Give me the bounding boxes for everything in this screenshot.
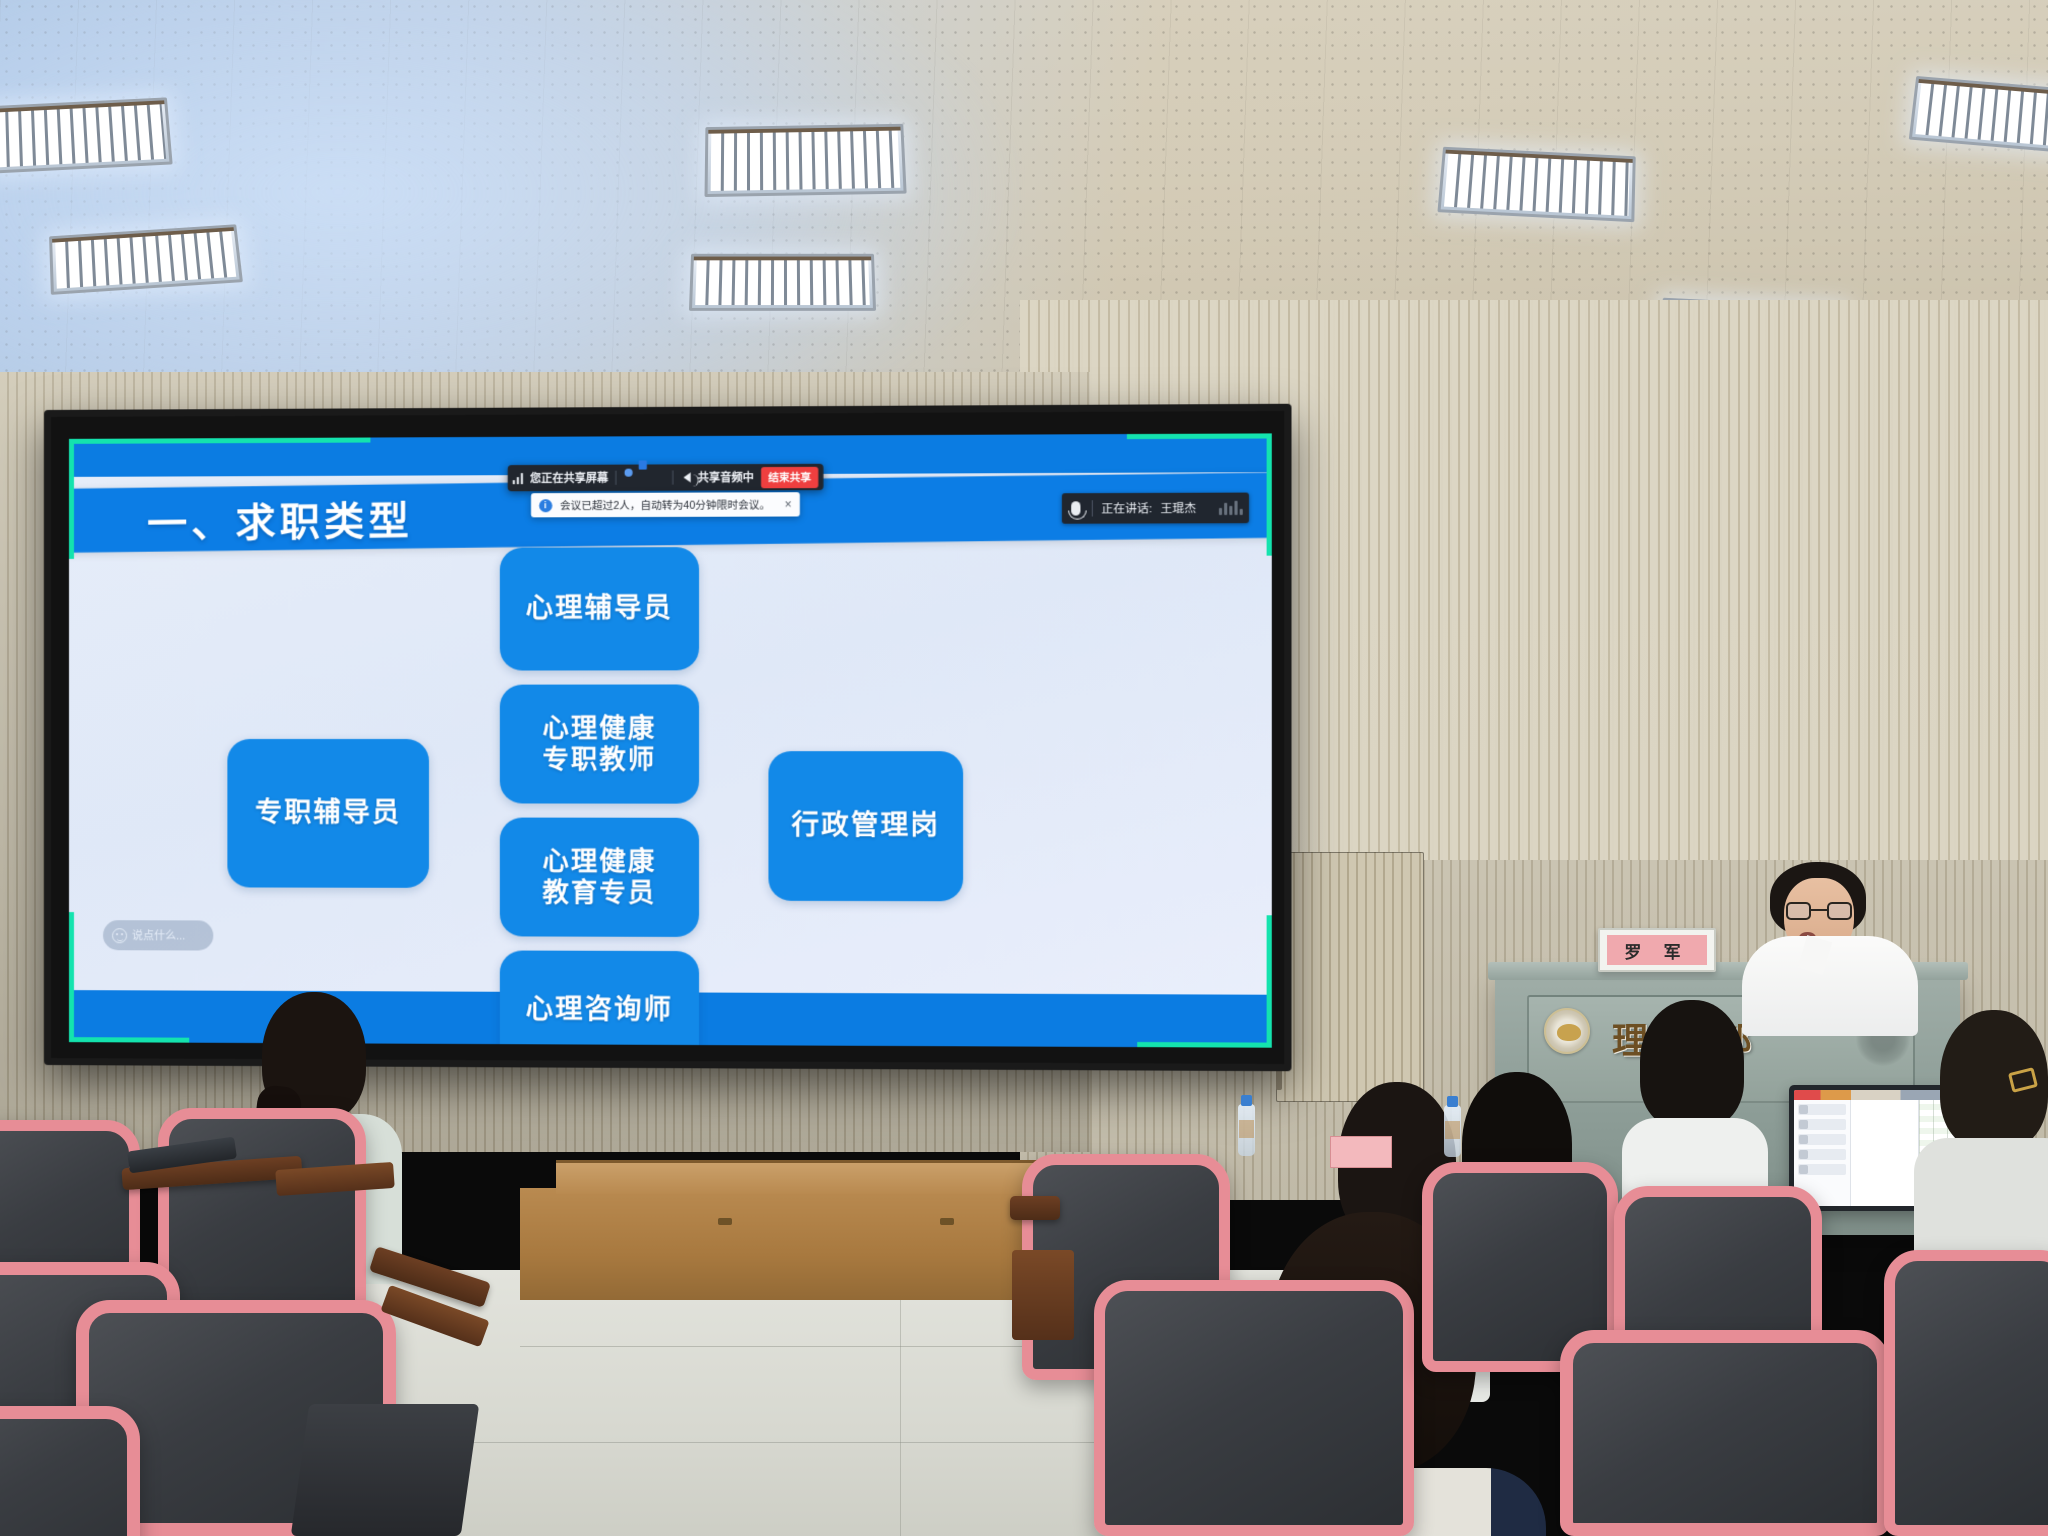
desk-name-card: [1330, 1136, 1392, 1168]
screen-content-area: 一、求职类型 专职辅导员 心理辅导员 心理健康 专职教师 心理健康 教育专员 心…: [69, 433, 1272, 1047]
job-box-center-3[interactable]: 心理健康 教育专员: [500, 818, 699, 937]
speaking-label: 正在讲话:: [1101, 500, 1152, 516]
stage-riser-front: [520, 1188, 1080, 1300]
job-box-right[interactable]: 行政管理岗: [768, 751, 963, 901]
audio-wave-icon: [1219, 501, 1243, 515]
auditorium-seat[interactable]: [1094, 1280, 1414, 1536]
info-icon: i: [539, 499, 552, 512]
list-item: [1798, 1149, 1846, 1160]
cloud-icon[interactable]: [623, 471, 640, 485]
auditorium-seat[interactable]: [1560, 1330, 1890, 1536]
nameplate: 罗 军: [1598, 928, 1716, 972]
presenter-shirt: [1742, 936, 1918, 1036]
auditorium-seat[interactable]: [0, 1406, 140, 1536]
flush-door-icon[interactable]: [1276, 852, 1424, 1102]
document-share-icon[interactable]: [648, 470, 665, 484]
comment-placeholder: 说点什么...: [132, 927, 185, 943]
share-border-corner-br: [1137, 1042, 1272, 1048]
divider: [1092, 500, 1093, 516]
divider: [615, 471, 616, 485]
recessed-grid-light-icon: [0, 97, 173, 173]
projection-screen: 一、求职类型 专职辅导员 心理辅导员 心理健康 专职教师 心理健康 教育专员 心…: [44, 404, 1292, 1071]
lecture-hall-scene: 一、求职类型 专职辅导员 心理辅导员 心理健康 专职教师 心理健康 教育专员 心…: [0, 0, 2048, 1536]
audience-hair: [1640, 1000, 1744, 1128]
auditorium-seat[interactable]: [158, 1108, 366, 1328]
list-item: [1798, 1104, 1846, 1115]
auditorium-seat[interactable]: [1884, 1250, 2048, 1536]
speaker-icon[interactable]: [684, 472, 691, 482]
eyeglasses-icon: [1786, 902, 1852, 920]
list-item: [1798, 1119, 1846, 1130]
comment-input-pill[interactable]: 说点什么...: [103, 920, 213, 950]
job-box-center-2[interactable]: 心理健康 专职教师: [500, 684, 699, 803]
job-box-center-4[interactable]: 心理咨询师: [500, 950, 699, 1047]
speaker-name: 王琨杰: [1160, 500, 1196, 516]
list-item: [1798, 1164, 1846, 1175]
presentation-slide: 一、求职类型 专职辅导员 心理辅导员 心理健康 专职教师 心理健康 教育专员 心…: [69, 433, 1272, 1047]
seat-armrest: [1010, 1196, 1060, 1220]
active-speaker-chip: 正在讲话: 王琨杰: [1062, 493, 1249, 524]
laptop-main-pane: [1851, 1100, 1918, 1206]
job-box-center-1[interactable]: 心理辅导员: [500, 547, 699, 670]
screen-share-toolbar[interactable]: 您正在共享屏幕 共享音频中 结束共享: [507, 464, 823, 491]
water-bottle: [1444, 1105, 1461, 1157]
share-border-corner-bl: [69, 912, 74, 1042]
stage-riser-step: [556, 1160, 1056, 1194]
divider: [672, 470, 673, 484]
recessed-grid-light-icon: [689, 254, 876, 311]
close-icon[interactable]: ×: [785, 497, 792, 511]
share-border-corner-bl: [69, 1037, 189, 1043]
signal-bars-icon: [512, 473, 523, 484]
stage-fastener-icon: [940, 1218, 954, 1225]
water-bottle: [1238, 1104, 1255, 1156]
microphone-icon: [1071, 501, 1080, 515]
share-border-corner-tl: [69, 439, 74, 559]
end-share-button[interactable]: 结束共享: [761, 466, 818, 487]
job-box-left[interactable]: 专职辅导员: [227, 739, 429, 888]
university-seal-icon: [1544, 1008, 1590, 1054]
nameplate-text: 罗 军: [1624, 938, 1689, 963]
audience-torso: [1914, 1138, 2048, 1268]
recessed-grid-light-icon: [704, 124, 906, 197]
stage-fastener-icon: [718, 1218, 732, 1225]
share-border-corner-tr: [1127, 433, 1272, 439]
seat-cushion: [291, 1404, 480, 1536]
floor-tile-seam: [900, 1300, 901, 1536]
list-item: [1798, 1134, 1846, 1145]
notice-message: 会议已超过2人，自动转为40分钟限时会议。: [560, 497, 770, 513]
meeting-notice-bar: i 会议已超过2人，自动转为40分钟限时会议。 ×: [530, 492, 799, 517]
share-border-corner-tr: [1267, 433, 1272, 555]
smiley-icon: [112, 928, 127, 943]
audio-share-label: 共享音频中: [698, 469, 754, 485]
job-type-box-group: 专职辅导员 心理辅导员 心理健康 专职教师 心理健康 教育专员 心理咨询师 行政…: [69, 433, 1272, 1047]
share-status-label: 您正在共享屏幕: [530, 470, 608, 486]
recessed-grid-light-icon: [1437, 147, 1635, 222]
share-border-corner-br: [1267, 915, 1272, 1047]
seat-writing-tablet[interactable]: [1012, 1250, 1074, 1340]
nameplate-card: 罗 军: [1607, 935, 1707, 965]
